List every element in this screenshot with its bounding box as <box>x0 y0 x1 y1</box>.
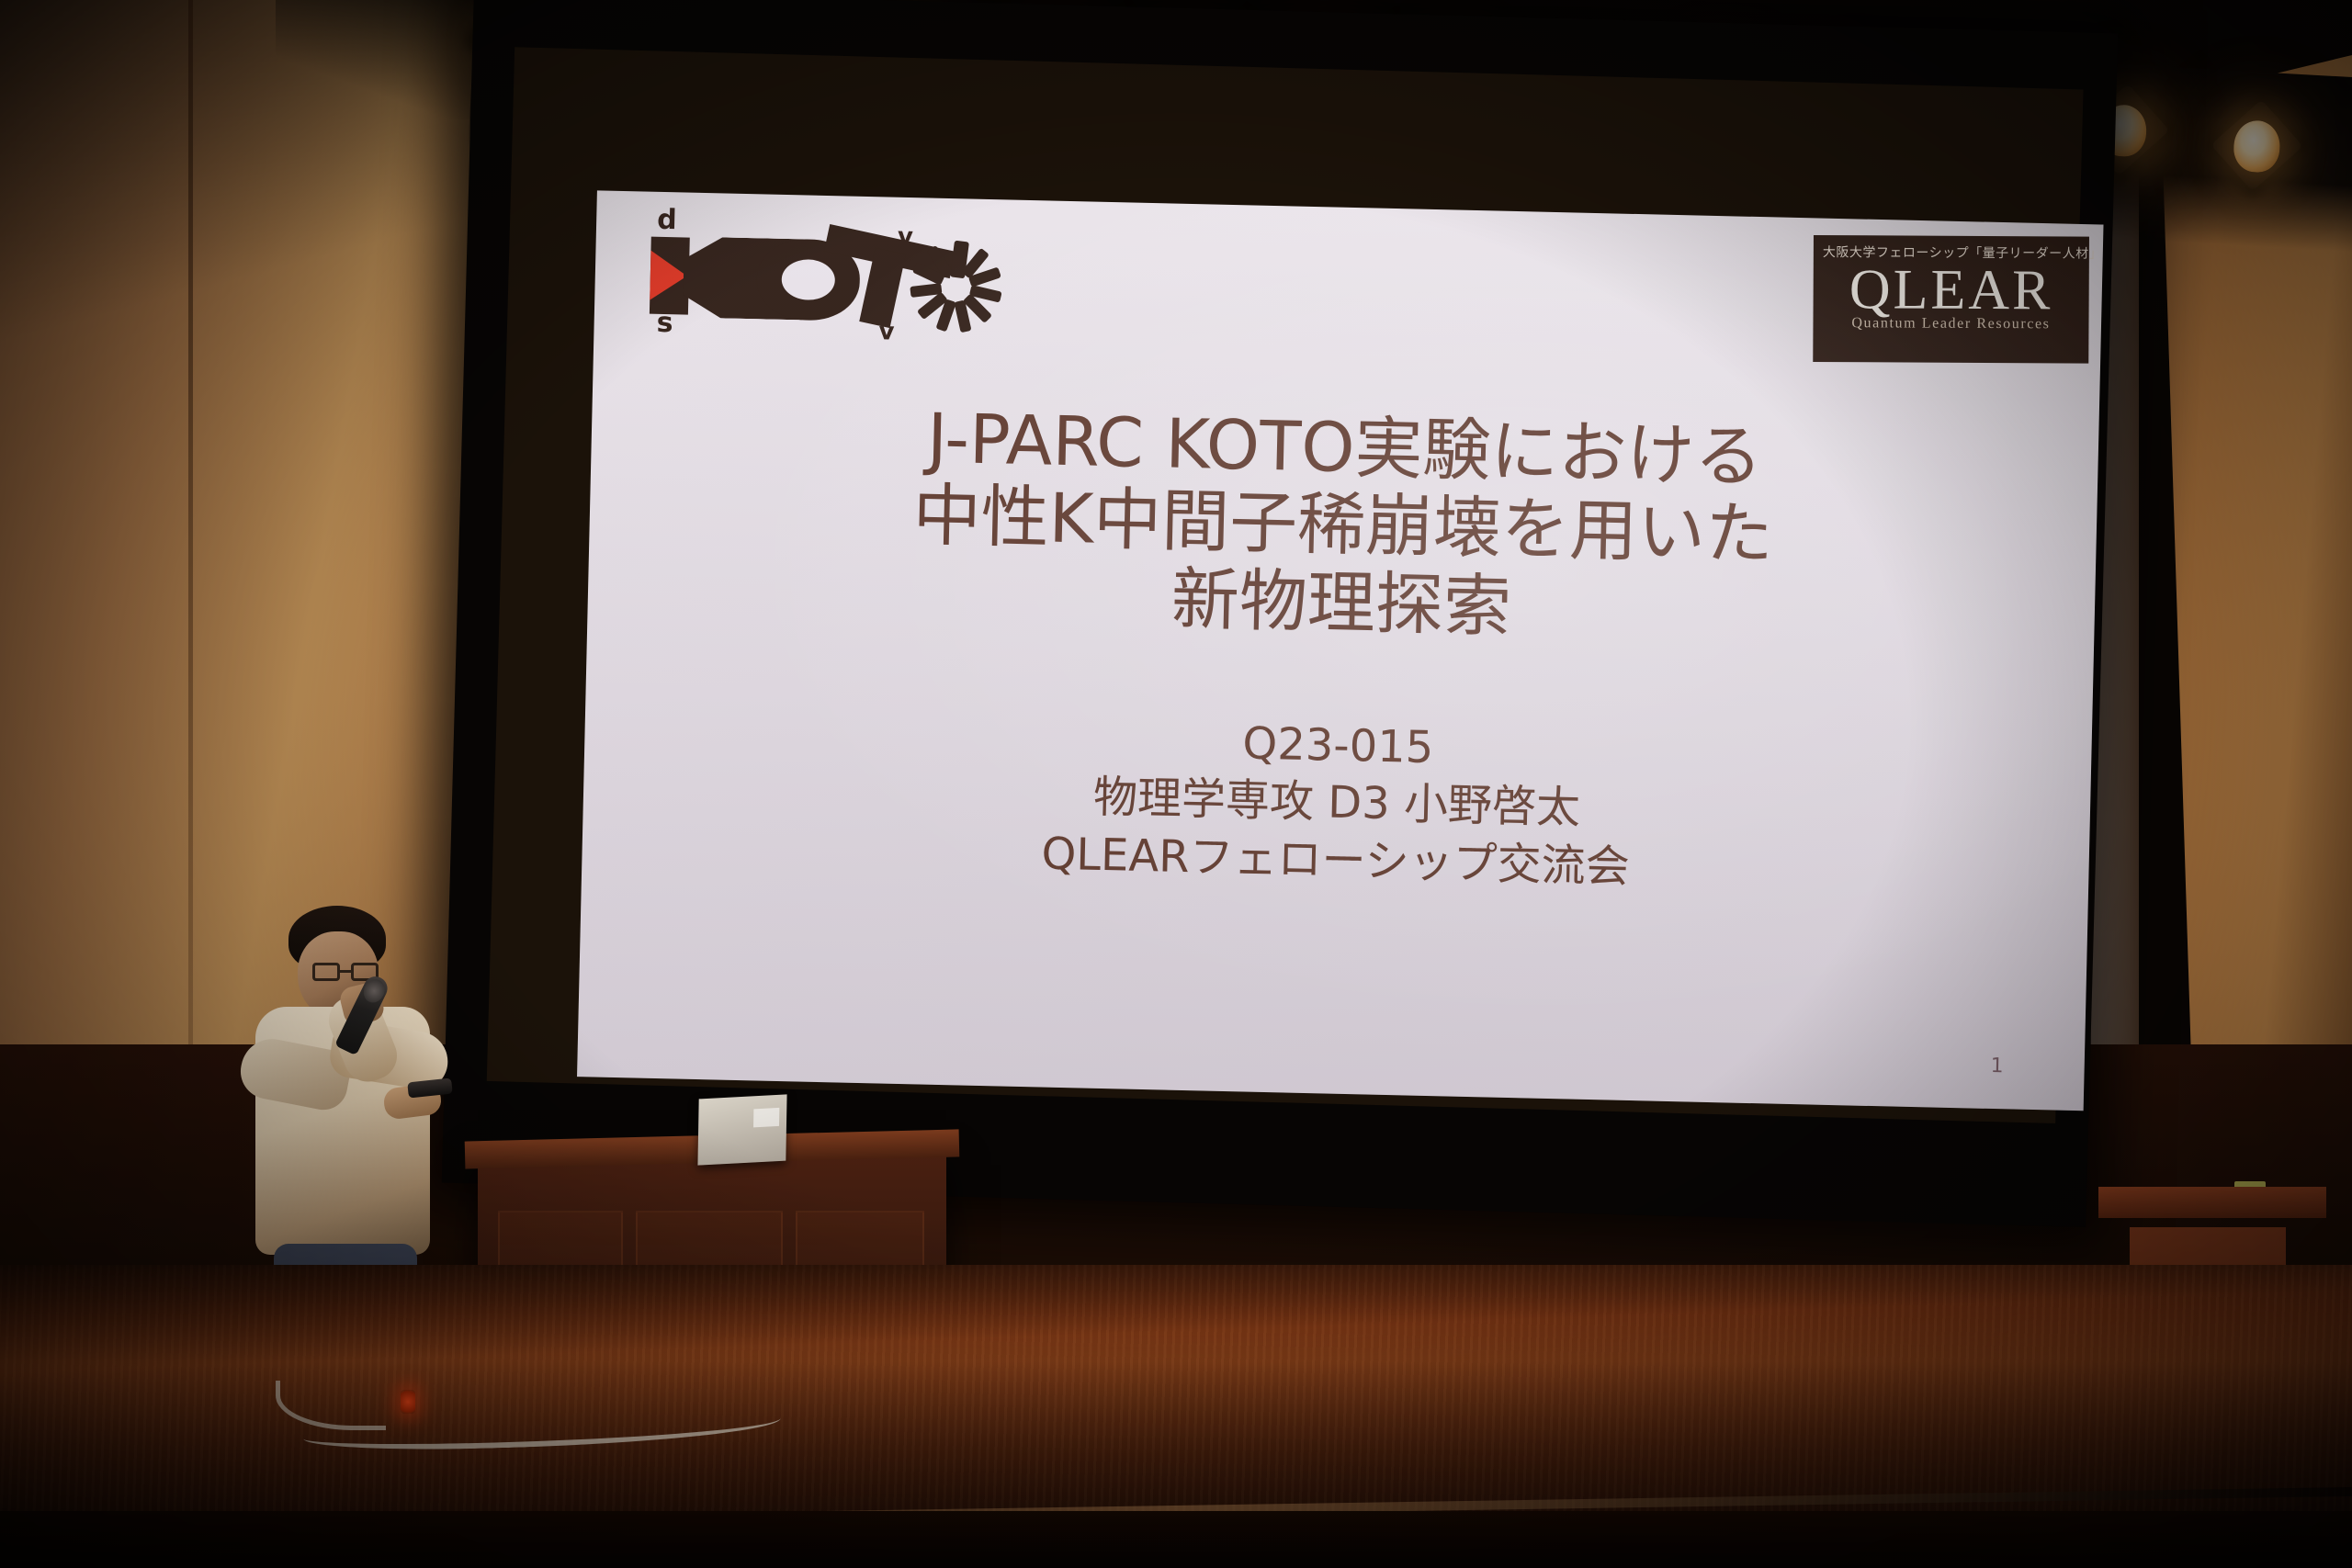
glasses-left-lens <box>312 963 340 981</box>
auditorium-scene: d s v v 大阪大学フェローシップ「量子リーダー人材」 QLEAR <box>0 0 2352 1568</box>
stage-front-edge <box>0 1511 2352 1568</box>
wall-seam-line <box>188 0 193 1185</box>
slide-title: J-PARC KOTO実験における 中性K中間子稀崩壊を用いた 新物理探索 <box>587 392 2098 659</box>
koto-logo: d s v v <box>628 206 1017 352</box>
stage-spotlight-icon <box>2223 110 2290 182</box>
qlear-logo: 大阪大学フェローシップ「量子リーダー人材」 QLEAR Quantum Lead… <box>1813 235 2089 364</box>
projection-screen-frame: d s v v 大阪大学フェローシップ「量子リーダー人材」 QLEAR <box>442 0 2119 1227</box>
presenter-laptop <box>697 1094 786 1165</box>
slide-page-number: 1 <box>1990 1055 2004 1077</box>
koto-logo-red-triangle <box>650 251 687 301</box>
slide-subtitle: Q23-015 物理学専攻 D3 小野啓太 QLEARフェローシップ交流会 <box>582 700 2092 906</box>
presentation-slide: d s v v 大阪大学フェローシップ「量子リーダー人材」 QLEAR <box>577 190 2103 1111</box>
qlear-wordmark: QLEAR <box>1823 263 2080 318</box>
secondary-lectern-top <box>2098 1187 2326 1218</box>
koto-logo-superscript-d: d <box>657 207 677 234</box>
presentation-clicker <box>407 1078 453 1099</box>
power-indicator-light <box>401 1390 415 1414</box>
koto-logo-sunburst-o <box>904 238 1005 335</box>
projection-screen-surface: d s v v 大阪大学フェローシップ「量子リーダー人材」 QLEAR <box>487 47 2084 1123</box>
qlear-tagline: Quantum Leader Resources <box>1822 315 2079 333</box>
